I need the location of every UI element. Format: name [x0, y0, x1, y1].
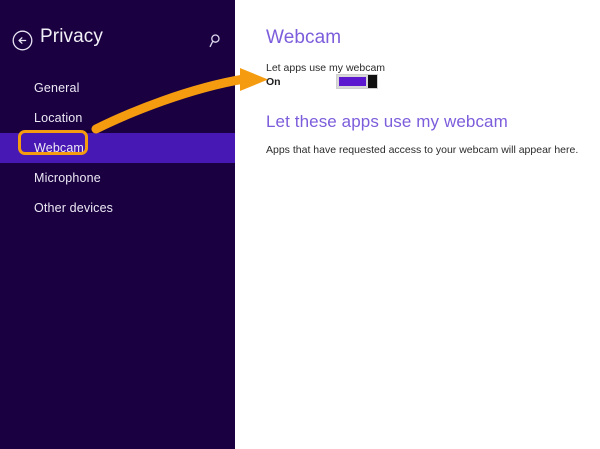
- sidebar-item-general[interactable]: General: [0, 73, 235, 103]
- sidebar-item-label: Location: [34, 111, 82, 125]
- sidebar-nav-list: General Location Webcam Microphone Other…: [0, 73, 235, 223]
- toggle-thumb[interactable]: [368, 75, 377, 88]
- sidebar-item-label: Other devices: [34, 201, 113, 215]
- screenshot-canvas: Privacy General Location Webcam Micropho…: [0, 0, 600, 449]
- back-button[interactable]: [12, 30, 33, 51]
- section-heading: Let these apps use my webcam: [266, 112, 508, 132]
- settings-content-panel: Webcam Let apps use my webcam On Let the…: [235, 0, 600, 449]
- toggle-row: On: [266, 74, 466, 90]
- sidebar-item-location[interactable]: Location: [0, 103, 235, 133]
- sidebar-item-webcam[interactable]: Webcam: [0, 133, 235, 163]
- search-icon: [208, 32, 226, 50]
- sidebar-item-microphone[interactable]: Microphone: [0, 163, 235, 193]
- content-heading: Webcam: [266, 27, 341, 49]
- sidebar-item-other-devices[interactable]: Other devices: [0, 193, 235, 223]
- search-button[interactable]: [208, 32, 226, 50]
- page-title: Privacy: [40, 26, 103, 48]
- toggle-state-label: On: [266, 74, 281, 90]
- toggle-track: [339, 77, 366, 86]
- toggle-caption-label: Let apps use my webcam: [266, 62, 385, 74]
- settings-sidebar: Privacy General Location Webcam Micropho…: [0, 0, 235, 449]
- sidebar-item-label: Microphone: [34, 171, 101, 185]
- sidebar-item-label: Webcam: [34, 141, 84, 155]
- webcam-access-toggle[interactable]: [336, 74, 378, 89]
- sidebar-header: Privacy: [0, 26, 235, 56]
- back-circle-arrow-icon: [12, 30, 33, 51]
- section-body-text: Apps that have requested access to your …: [266, 144, 578, 156]
- sidebar-item-label: General: [34, 81, 80, 95]
